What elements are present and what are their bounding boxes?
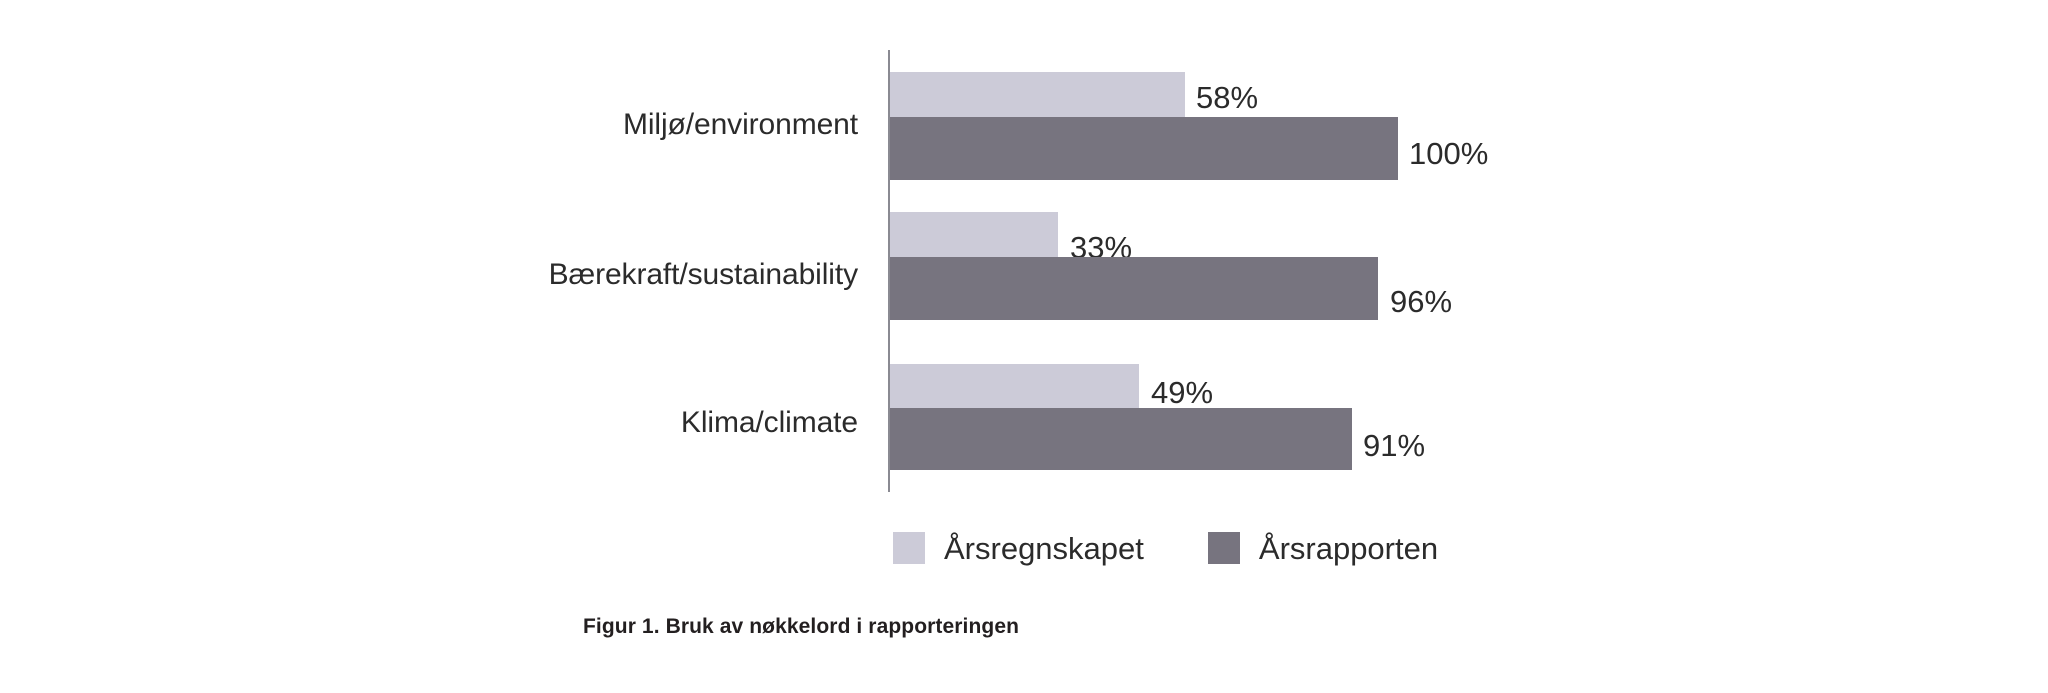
category-label-baerekraft-sustainability: Bærekraft/sustainability xyxy=(549,260,858,290)
bar-value-klima-arsregnskapet: 49% xyxy=(1151,377,1213,408)
category-label-klima-climate: Klima/climate xyxy=(681,408,858,438)
chart-legend: Årsregnskapet Årsrapporten xyxy=(893,532,1438,564)
legend-label-arsrapporten: Årsrapporten xyxy=(1259,533,1438,564)
bar-klima-arsregnskapet xyxy=(890,364,1139,408)
figure-caption: Figur 1. Bruk av nøkkelord i rapporterin… xyxy=(583,614,1019,640)
bar-value-baerekraft-arsrapporten: 96% xyxy=(1390,286,1452,317)
bar-miljo-arsregnskapet xyxy=(890,72,1185,117)
bar-chart-plot-area: Miljø/environment 58% 100% Bærekraft/sus… xyxy=(0,0,2048,693)
figure-container: Miljø/environment 58% 100% Bærekraft/sus… xyxy=(0,0,2048,693)
legend-swatch-arsrapporten xyxy=(1208,532,1240,564)
legend-swatch-arsregnskapet xyxy=(893,532,925,564)
bar-baerekraft-arsregnskapet xyxy=(890,212,1058,257)
legend-label-arsregnskapet: Årsregnskapet xyxy=(944,533,1144,564)
bar-value-miljo-arsregnskapet: 58% xyxy=(1196,82,1258,113)
bar-value-klima-arsrapporten: 91% xyxy=(1363,430,1425,461)
bar-klima-arsrapporten xyxy=(890,408,1352,470)
bar-value-miljo-arsrapporten: 100% xyxy=(1409,138,1488,169)
legend-item-arsrapporten: Årsrapporten xyxy=(1208,532,1438,564)
bar-baerekraft-arsrapporten xyxy=(890,257,1378,320)
legend-item-arsregnskapet: Årsregnskapet xyxy=(893,532,1144,564)
bar-miljo-arsrapporten xyxy=(890,117,1398,180)
category-label-miljo-environment: Miljø/environment xyxy=(623,110,858,140)
